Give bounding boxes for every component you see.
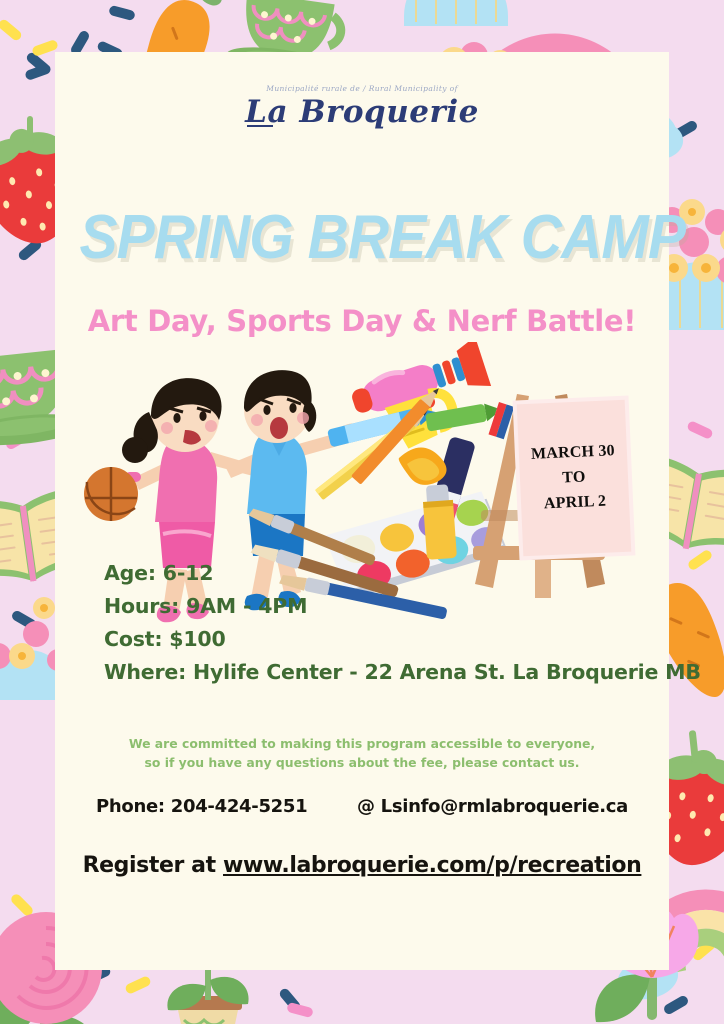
date-line-3: APRIL 2 xyxy=(521,488,630,518)
poster-card: Municipalité rurale de / Rural Municipal… xyxy=(55,52,669,970)
note-line-2: so if you have any questions about the f… xyxy=(55,753,669,772)
accessibility-note: We are committed to making this program … xyxy=(55,734,669,772)
register-line: Register at www.labroquerie.com/p/recrea… xyxy=(55,853,669,878)
camp-details: Age: 6-12 Hours: 9AM - 4PM Cost: $100 Wh… xyxy=(104,557,701,689)
contact-phone[interactable]: Phone: 204-424-5251 xyxy=(96,796,307,817)
detail-cost: Cost: $100 xyxy=(104,623,701,656)
date-sign: MARCH 30 TO APRIL 2 xyxy=(517,400,632,557)
page-title: SPRING BREAK CAMP xyxy=(80,207,645,269)
brand-logo: Municipalité rurale de / Rural Municipal… xyxy=(55,84,669,130)
register-url[interactable]: www.labroquerie.com/p/recreation xyxy=(223,853,641,878)
register-prefix: Register at xyxy=(83,853,223,878)
contact-email[interactable]: @ Lsinfo@rmlabroquerie.ca xyxy=(357,796,628,817)
note-line-1: We are committed to making this program … xyxy=(55,734,669,753)
date-line-1: MARCH 30 xyxy=(518,438,627,468)
page-subtitle: Art Day, Sports Day & Nerf Battle! xyxy=(55,304,669,338)
logo-tagline: Municipalité rurale de / Rural Municipal… xyxy=(55,84,669,93)
contact-row: Phone: 204-424-5251 @ Lsinfo@rmlabroquer… xyxy=(55,796,669,826)
detail-hours: Hours: 9AM - 4PM xyxy=(104,590,701,623)
poster: Municipalité rurale de / Rural Municipal… xyxy=(0,0,724,1024)
logo-name: La Broquerie xyxy=(245,94,479,130)
detail-location: Where: Hylife Center - 22 Arena St. La B… xyxy=(104,656,701,689)
detail-age: Age: 6-12 xyxy=(104,557,701,590)
